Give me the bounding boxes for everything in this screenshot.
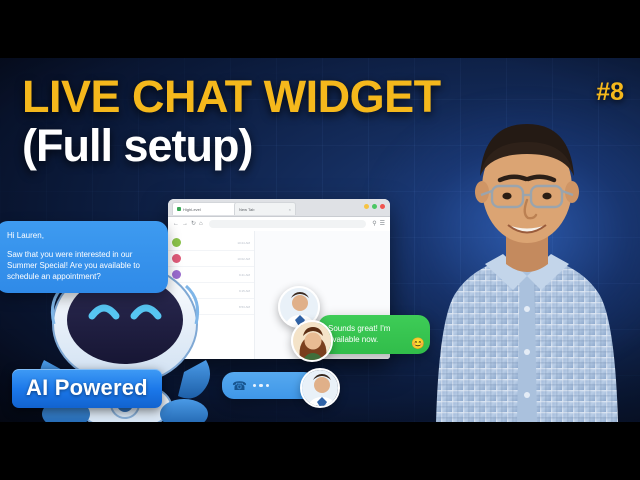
browser-tabstrip: HighLevel × New Tab × <box>168 199 390 217</box>
browser-tab-1[interactable]: HighLevel × <box>172 202 242 215</box>
window-controls <box>364 204 385 209</box>
home-icon[interactable]: ⌂ <box>199 221 203 227</box>
tab-close-icon[interactable]: × <box>289 207 291 212</box>
window-minimize-dot[interactable] <box>364 204 369 209</box>
timestamp: 10:24 AM <box>237 241 250 245</box>
presenter-photo <box>408 104 640 422</box>
agent-message-bubble: Hi Lauren, Saw that you were interested … <box>0 221 168 293</box>
phone-icon: ☎ <box>232 379 247 393</box>
headline-line-2: (Full setup) <box>22 120 441 172</box>
window-maximize-dot[interactable] <box>372 204 377 209</box>
youtube-thumbnail: HighLevel × New Tab × ← → ↻ ⌂ <box>0 0 640 480</box>
tab-favicon <box>177 207 181 211</box>
timestamp: 10:02 AM <box>237 257 250 261</box>
headline: LIVE CHAT WIDGET (Full setup) <box>22 72 441 172</box>
reload-icon[interactable]: ↻ <box>191 221 196 227</box>
avatar <box>291 320 333 362</box>
avatar <box>300 368 340 408</box>
address-bar[interactable] <box>209 220 367 228</box>
episode-badge: #8 <box>596 78 624 107</box>
search-icon[interactable]: ⚲ <box>372 221 376 227</box>
customer-message-text: Sounds great! I'm available now. <box>328 323 420 345</box>
timestamp: 8:53 AM <box>239 305 250 309</box>
typing-indicator <box>253 384 270 388</box>
browser-tab-title: HighLevel <box>183 207 201 212</box>
headline-line-1: LIVE CHAT WIDGET <box>22 72 441 122</box>
letterbox-top <box>0 0 640 58</box>
timestamp: 9:41 AM <box>239 273 250 277</box>
browser-tab-2[interactable]: New Tab × <box>234 202 296 215</box>
timestamp: 9:15 AM <box>239 289 250 293</box>
window-close-dot[interactable] <box>380 204 385 209</box>
agent-greeting: Hi Lauren, <box>7 230 157 241</box>
ai-powered-badge: AI Powered <box>12 369 162 408</box>
agent-message-text: Saw that you were interested in our Summ… <box>7 249 157 282</box>
letterbox-bottom <box>0 422 640 480</box>
back-icon[interactable]: ← <box>173 221 179 227</box>
thumbnail-stage: HighLevel × New Tab × ← → ↻ ⌂ <box>0 58 640 422</box>
menu-icon[interactable]: ☰ <box>380 221 385 227</box>
forward-icon[interactable]: → <box>182 221 188 227</box>
browser-tab-title: New Tab <box>239 207 255 212</box>
